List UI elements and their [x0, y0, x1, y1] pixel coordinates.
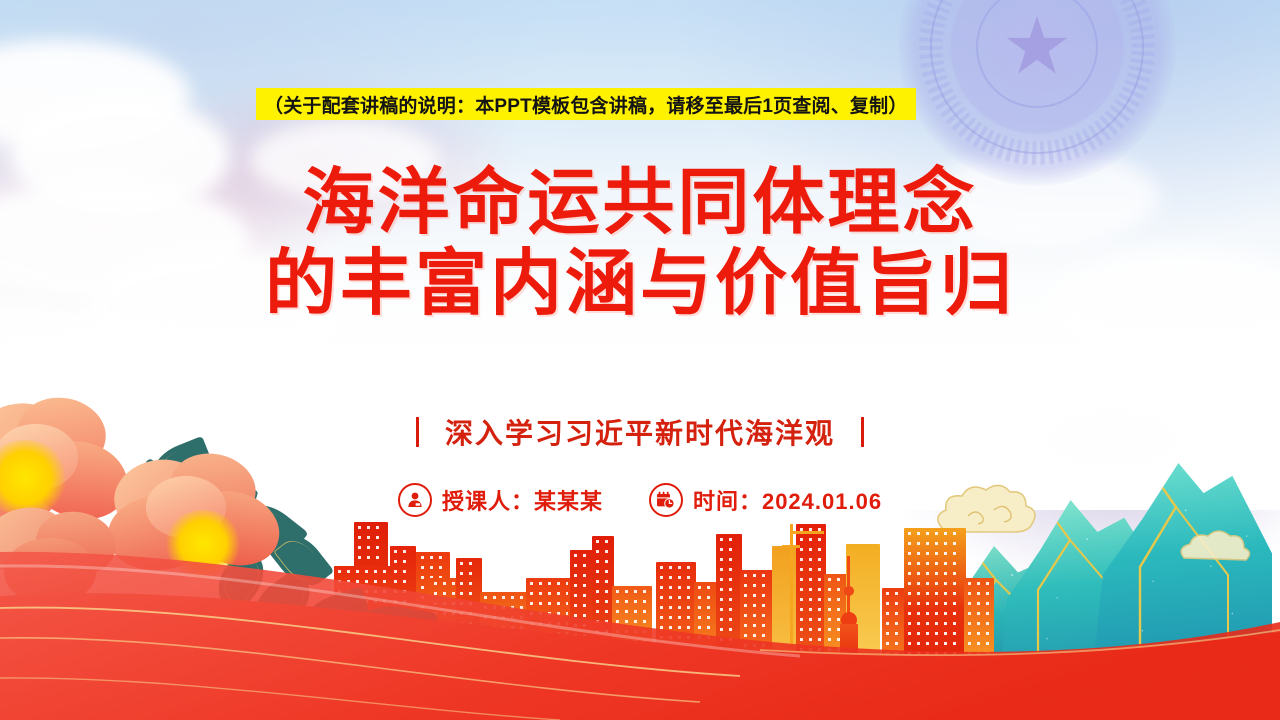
title-line-2: 的丰富内涵与价值旨归	[0, 244, 1280, 325]
notice-text: （关于配套讲稿的说明：本PPT模板包含讲稿，请移至最后1页查阅、复制）	[264, 91, 908, 118]
calendar-clock-icon	[649, 483, 683, 517]
presenter-text: 授课人：某某某	[442, 484, 603, 516]
presenter-item: 授课人：某某某	[398, 483, 603, 517]
red-ribbon-icon	[0, 510, 1280, 720]
subtitle-left-divider	[416, 417, 419, 447]
date-item: 时间：2024.01.06	[649, 483, 882, 517]
meta-row: 授课人：某某某 时间：2024.01.06	[0, 483, 1280, 517]
page-title: 海洋命运共同体理念 的丰富内涵与价值旨归	[0, 163, 1280, 324]
notice-banner: （关于配套讲稿的说明：本PPT模板包含讲稿，请移至最后1页查阅、复制）	[256, 88, 916, 120]
person-icon	[398, 483, 432, 517]
title-line-1: 海洋命运共同体理念	[0, 163, 1280, 244]
subtitle-text: 深入学习习近平新时代海洋观	[445, 412, 835, 452]
date-text: 时间：2024.01.06	[693, 484, 882, 516]
subtitle-right-divider	[861, 417, 864, 447]
presentation-slide: （关于配套讲稿的说明：本PPT模板包含讲稿，请移至最后1页查阅、复制） 海洋命运…	[0, 0, 1280, 720]
subtitle: 深入学习习近平新时代海洋观	[0, 412, 1280, 452]
